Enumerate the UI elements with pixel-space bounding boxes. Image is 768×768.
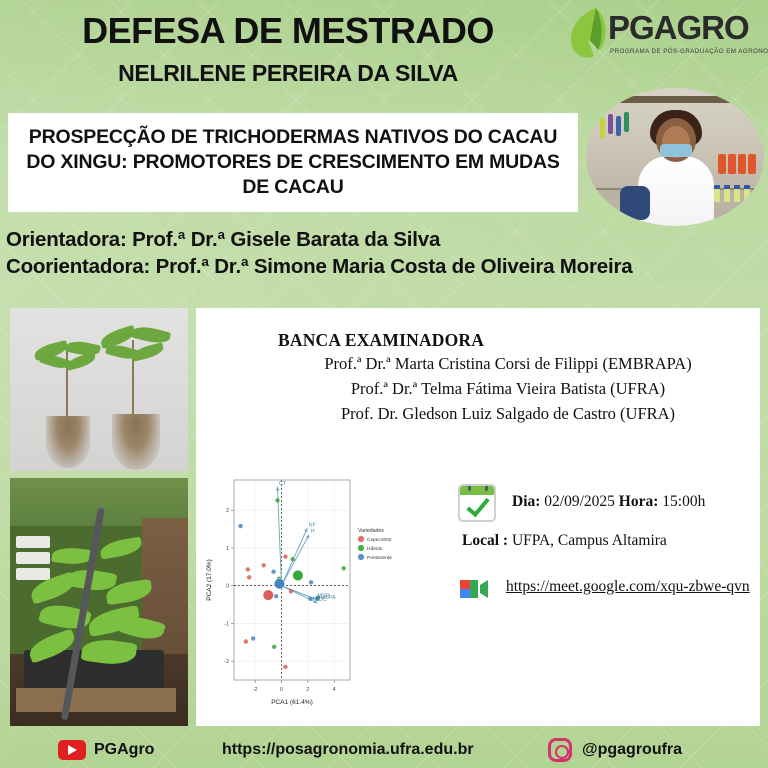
leaf-icon xyxy=(566,6,612,62)
svg-text:2: 2 xyxy=(226,508,229,514)
google-meet-icon xyxy=(458,576,490,602)
advisor-line: Orientadora: Prof.ª Dr.ª Gisele Barata d… xyxy=(6,226,766,253)
svg-text:NF: NF xyxy=(309,522,317,528)
youtube-icon[interactable] xyxy=(58,740,86,760)
pgagro-logo: PGAGRO PROGRAMA DE PÓS-GRADUAÇÃO EM AGRO… xyxy=(558,4,760,66)
pgagro-wordmark: PGAGRO xyxy=(608,9,749,47)
thesis-title-band: PROSPECÇÃO DE TRICHODERMAS NATIVOS DO CA… xyxy=(8,113,578,212)
advisors-block: Orientadora: Prof.ª Dr.ª Gisele Barata d… xyxy=(6,226,766,280)
svg-text:-2: -2 xyxy=(253,687,258,693)
date-label: Dia: xyxy=(512,493,540,510)
svg-text:Cepec2002: Cepec2002 xyxy=(367,537,392,543)
board-member: Prof.ª Dr.ª Telma Fátima Vieira Batista … xyxy=(278,376,738,401)
svg-text:2: 2 xyxy=(306,687,309,693)
thesis-title: PROSPECÇÃO DE TRICHODERMAS NATIVOS DO CA… xyxy=(8,125,578,200)
page-title: DEFESA DE MESTRADO xyxy=(18,12,558,50)
cacao-nursery-photo xyxy=(10,478,188,726)
event-date-row: Dia: 02/09/2025 Hora: 15:00h xyxy=(458,484,758,530)
event-location-row: Local : UFPA, Campus Altamira xyxy=(458,532,758,550)
researcher-photo xyxy=(586,88,764,226)
meet-link[interactable]: https://meet.google.com/xqu-zbwe-qvn xyxy=(506,578,750,596)
examining-board-heading: BANCA EXAMINADORA xyxy=(278,330,738,351)
svg-text:-1: -1 xyxy=(224,621,229,627)
svg-text:PCA1 (61.4%): PCA1 (61.4%) xyxy=(271,699,313,706)
poster-footer: PGAgro https://posagronomia.ufra.edu.br … xyxy=(0,730,768,768)
date-value: 02/09/2025 xyxy=(544,493,615,510)
pca-biplot-chart: -2024-2-1012PCA1 (61.4%)PCA2 (17.0%)CTNF… xyxy=(202,470,402,710)
time-value: 15:00h xyxy=(662,493,705,510)
coadvisor-line: Coorientadora: Prof.ª Dr.ª Simone Maria … xyxy=(6,253,766,280)
local-value: UFPA, Campus Altamira xyxy=(512,532,667,549)
board-member: Prof.ª Dr.ª Marta Cristina Corsi de Fili… xyxy=(278,351,738,376)
svg-text:0: 0 xyxy=(280,687,283,693)
calendar-check-icon xyxy=(458,484,496,522)
svg-text:PontaVerde: PontaVerde xyxy=(367,555,392,561)
time-label: Hora: xyxy=(619,493,659,510)
svg-text:0: 0 xyxy=(226,584,229,590)
svg-text:CT: CT xyxy=(279,481,287,487)
candidate-name: NELRILENE PEREIRA DA SILVA xyxy=(18,60,558,87)
svg-text:Híbrido: Híbrido xyxy=(367,546,383,552)
svg-text:-2: -2 xyxy=(224,659,229,665)
svg-text:Variedades: Variedades xyxy=(358,528,384,534)
svg-text:4: 4 xyxy=(333,687,336,693)
local-label: Local : xyxy=(462,532,508,549)
poster-header: DEFESA DE MESTRADO NELRILENE PEREIRA DA … xyxy=(0,0,768,96)
event-datetime: Dia: 02/09/2025 Hora: 15:00h xyxy=(512,493,705,511)
youtube-channel-label: PGAgro xyxy=(94,741,154,759)
instagram-icon[interactable] xyxy=(548,738,572,762)
svg-text:H: H xyxy=(311,529,315,535)
event-details: Dia: 02/09/2025 Hora: 15:00h Local : UFP… xyxy=(458,484,758,608)
content-panel: BANCA EXAMINADORA Prof.ª Dr.ª Marta Cris… xyxy=(196,308,760,726)
cacao-seedlings-roots-photo xyxy=(10,308,188,471)
poster-root: DEFESA DE MESTRADO NELRILENE PEREIRA DA … xyxy=(0,0,768,768)
svg-text:1: 1 xyxy=(226,546,229,552)
site-url[interactable]: https://posagronomia.ufra.edu.br xyxy=(222,741,474,759)
instagram-handle: @pgagroufra xyxy=(582,741,682,759)
event-meet-row: https://meet.google.com/xqu-zbwe-qvn xyxy=(458,574,758,608)
board-member: Prof. Dr. Gledson Luiz Salgado de Castro… xyxy=(278,401,738,426)
examining-board: BANCA EXAMINADORA Prof.ª Dr.ª Marta Cris… xyxy=(278,330,738,426)
pgagro-tagline: PROGRAMA DE PÓS-GRADUAÇÃO EM AGRONOMIA xyxy=(610,48,768,55)
svg-text:PCA2 (17.0%): PCA2 (17.0%) xyxy=(206,559,213,601)
